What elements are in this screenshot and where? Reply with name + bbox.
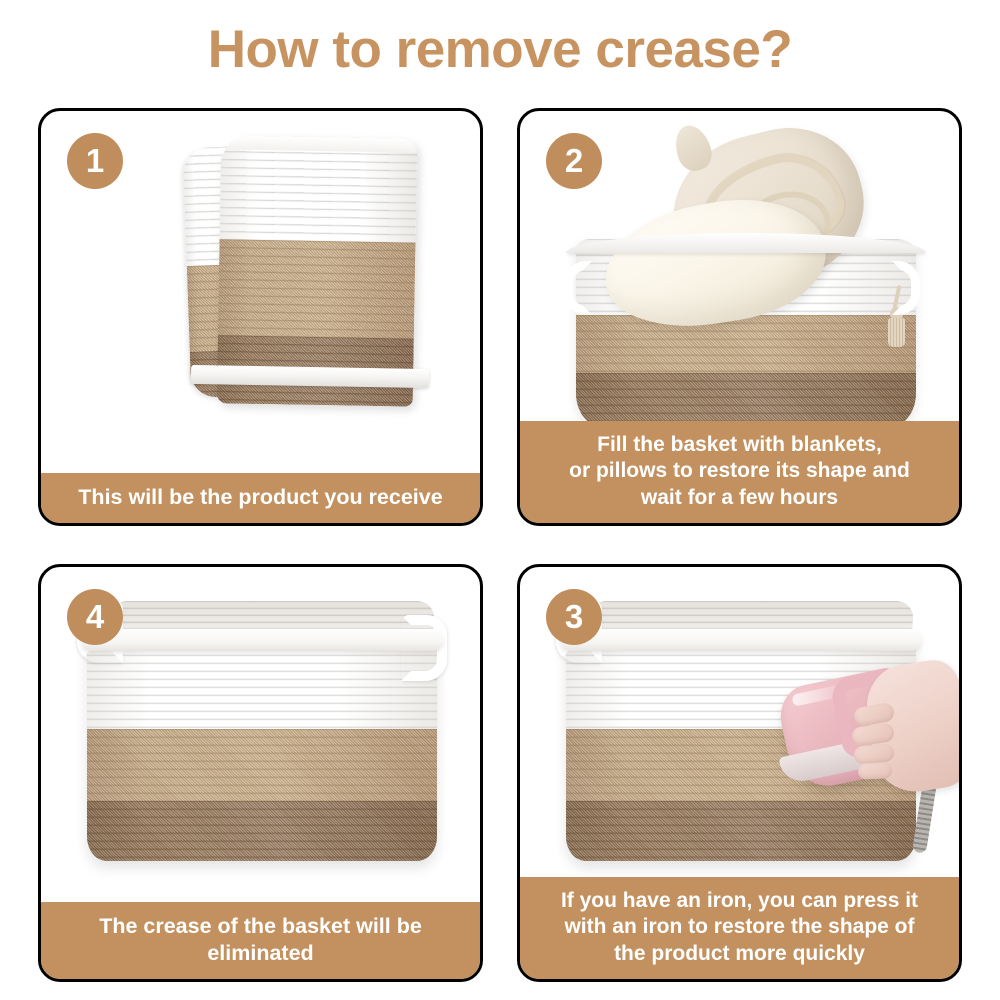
- step-badge-2: 2: [546, 133, 602, 189]
- step-badge-3: 3: [546, 589, 602, 645]
- finger: [858, 762, 893, 779]
- handheld-iron: [778, 649, 959, 859]
- basket-rim: [566, 233, 926, 253]
- step-caption-4: The crease of the basket will be elimina…: [41, 902, 480, 979]
- page-title: How to remove crease?: [0, 20, 1000, 80]
- basket-front-rim: [81, 629, 443, 651]
- infographic-page: How to remove crease?: [0, 0, 1000, 1000]
- steps-grid: 1 This will be the product you receive: [38, 108, 962, 982]
- basket-front-rim: [560, 629, 922, 651]
- step-card-2: 2 Fill the basket with blankets, or pill…: [517, 108, 962, 526]
- rope-basket: [87, 639, 437, 861]
- step-caption-2: Fill the basket with blankets, or pillow…: [520, 421, 959, 524]
- step-badge-4: 4: [67, 589, 123, 645]
- step-card-1: 1 This will be the product you receive: [38, 108, 483, 526]
- step-card-3: 3 If you have an iron, you can press it …: [517, 564, 962, 982]
- step-badge-1: 1: [67, 133, 123, 189]
- basket-handle-left: [564, 261, 592, 315]
- step-caption-1: This will be the product you receive: [41, 473, 480, 523]
- step-card-4: 4 The crease of the basket will be elimi…: [38, 564, 483, 982]
- step-caption-3: If you have an iron, you can press it wi…: [520, 877, 959, 980]
